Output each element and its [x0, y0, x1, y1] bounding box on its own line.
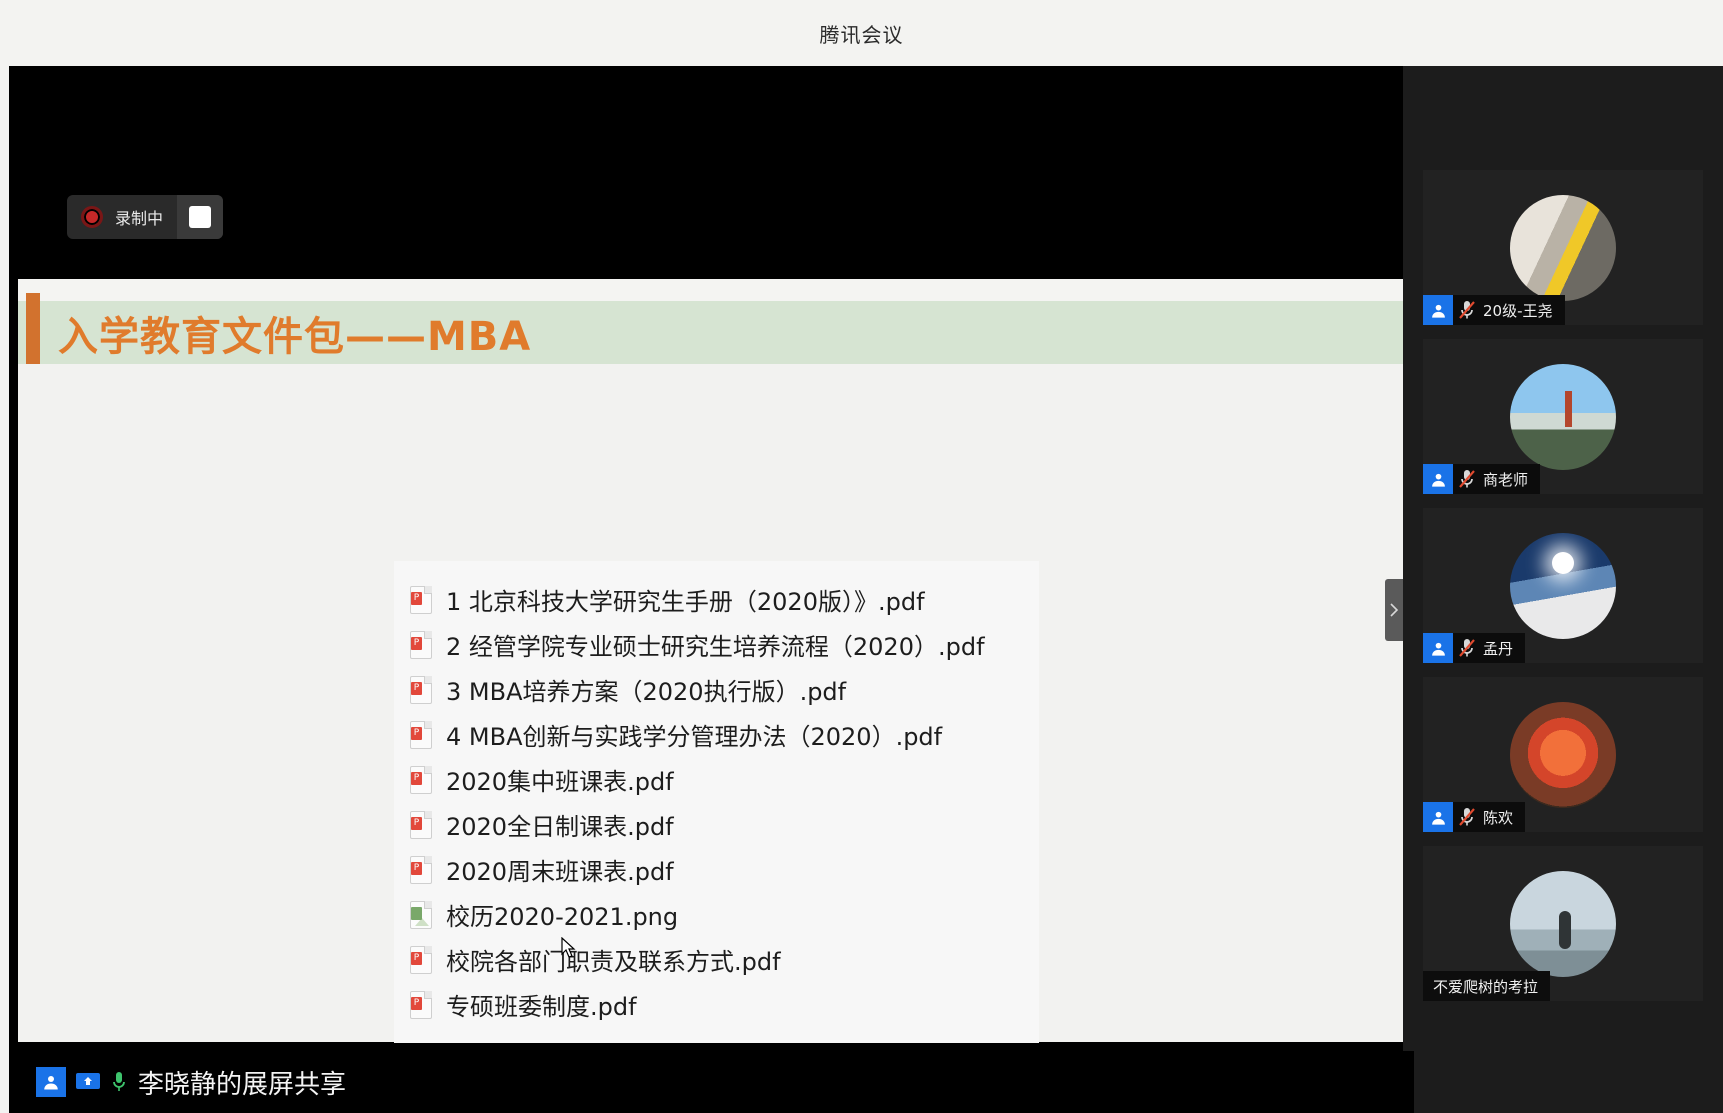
pdf-file-icon: P	[410, 991, 432, 1019]
microphone-muted-icon	[1453, 633, 1481, 663]
file-list-item[interactable]: P专硕班委制度.pdf	[394, 982, 1039, 1027]
app-title: 腾讯会议	[820, 19, 904, 48]
pdf-file-icon: P	[410, 946, 432, 974]
participant-namebar: 不爱爬树的考拉	[1423, 971, 1550, 1001]
person-icon	[1423, 802, 1453, 832]
file-list-item[interactable]: P2020集中班课表.pdf	[394, 757, 1039, 802]
file-list-item[interactable]: P4 MBA创新与实践学分管理办法（2020）.pdf	[394, 712, 1039, 757]
file-list-item[interactable]: P校院各部门职责及联系方式.pdf	[394, 937, 1039, 982]
title-accent-bar	[26, 293, 40, 365]
avatar	[1510, 364, 1616, 470]
pdf-file-icon: P	[410, 631, 432, 659]
file-name: 1 北京科技大学研究生手册（2020版）》.pdf	[446, 582, 925, 617]
avatar	[1510, 702, 1616, 808]
participant-namebar: 20级-王尧	[1423, 295, 1565, 325]
meeting-stage: 录制中 入学教育文件包——MBA P1 北京科技大学研究生手册（2020版）》.…	[9, 66, 1723, 1113]
recording-indicator[interactable]: 录制中	[67, 195, 223, 239]
image-file-icon	[410, 901, 432, 929]
file-name: 2020集中班课表.pdf	[446, 762, 674, 797]
slide-title: 入学教育文件包——MBA	[58, 304, 531, 362]
participants-collapse-handle[interactable]	[1385, 579, 1403, 641]
file-list-item[interactable]: P1 北京科技大学研究生手册（2020版）》.pdf	[394, 577, 1039, 622]
person-icon	[36, 1067, 66, 1097]
participant-namebar: 陈欢	[1423, 802, 1525, 832]
participant-tile[interactable]: 20级-王尧	[1423, 170, 1703, 325]
participant-name: 孟丹	[1481, 638, 1525, 659]
file-name: 专硕班委制度.pdf	[446, 987, 637, 1022]
shared-slide: 入学教育文件包——MBA P1 北京科技大学研究生手册（2020版）》.pdfP…	[18, 279, 1414, 1042]
person-icon	[1423, 295, 1453, 325]
file-list-item[interactable]: P2020全日制课表.pdf	[394, 802, 1039, 847]
microphone-muted-icon	[1453, 464, 1481, 494]
participant-name: 商老师	[1481, 469, 1540, 490]
chevron-right-icon	[1389, 603, 1399, 617]
pdf-file-icon: P	[410, 766, 432, 794]
file-name: 4 MBA创新与实践学分管理办法（2020）.pdf	[446, 717, 942, 752]
file-name: 2020全日制课表.pdf	[446, 807, 674, 842]
microphone-muted-icon	[1453, 295, 1481, 325]
participant-namebar: 孟丹	[1423, 633, 1525, 663]
participant-tile[interactable]: 商老师	[1423, 339, 1703, 494]
participant-tile[interactable]: 不爱爬树的考拉	[1423, 846, 1703, 1001]
microphone-muted-icon	[1453, 802, 1481, 832]
tencent-meeting-window: 腾讯会议 录制中 入学教育文件包——MBA P1 北京科技大学研究生手册（202…	[0, 0, 1723, 1113]
file-list-item[interactable]: P3 MBA培养方案（2020执行版）.pdf	[394, 667, 1039, 712]
participant-name: 不爱爬树的考拉	[1433, 976, 1550, 997]
person-icon	[1423, 633, 1453, 663]
pdf-file-icon: P	[410, 586, 432, 614]
participant-name: 陈欢	[1481, 807, 1525, 828]
slide-body: P1 北京科技大学研究生手册（2020版）》.pdfP2 经管学院专业硕士研究生…	[18, 364, 1414, 1042]
file-name: 2020周末班课表.pdf	[446, 852, 674, 887]
microphone-icon	[108, 1069, 130, 1095]
record-dot-icon	[81, 206, 103, 228]
participants-rail: 20级-王尧商老师孟丹陈欢不爱爬树的考拉	[1403, 66, 1723, 1113]
file-list-item[interactable]: P2 经管学院专业硕士研究生培养流程（2020）.pdf	[394, 622, 1039, 667]
pdf-file-icon: P	[410, 676, 432, 704]
file-name: 3 MBA培养方案（2020执行版）.pdf	[446, 672, 846, 707]
stop-recording-button[interactable]	[177, 195, 223, 239]
participant-namebar: 商老师	[1423, 464, 1540, 494]
person-icon	[1423, 464, 1453, 494]
pdf-file-icon: P	[410, 856, 432, 884]
file-name: 校院各部门职责及联系方式.pdf	[446, 942, 781, 977]
file-name: 校历2020-2021.png	[446, 897, 678, 932]
participant-tile[interactable]: 孟丹	[1423, 508, 1703, 663]
pdf-file-icon: P	[410, 811, 432, 839]
share-owner-label: 李晓静的展屏共享	[138, 1064, 346, 1101]
file-list-item[interactable]: P2020周末班课表.pdf	[394, 847, 1039, 892]
file-list: P1 北京科技大学研究生手册（2020版）》.pdfP2 经管学院专业硕士研究生…	[394, 561, 1039, 1043]
screen-share-icon	[74, 1071, 102, 1093]
avatar	[1510, 533, 1616, 639]
participant-tile[interactable]: 陈欢	[1423, 677, 1703, 832]
window-titlebar: 腾讯会议	[0, 0, 1723, 66]
avatar	[1510, 871, 1616, 977]
avatar	[1510, 195, 1616, 301]
file-name: 2 经管学院专业硕士研究生培养流程（2020）.pdf	[446, 627, 985, 662]
slide-top-margin	[18, 279, 1414, 301]
screen-share-bar: 李晓静的展屏共享	[18, 1051, 1414, 1113]
pdf-file-icon: P	[410, 721, 432, 749]
recording-label: 录制中	[115, 205, 163, 229]
slide-title-band: 入学教育文件包——MBA	[18, 301, 1414, 364]
file-list-item[interactable]: 校历2020-2021.png	[394, 892, 1039, 937]
participant-name: 20级-王尧	[1481, 300, 1565, 321]
stop-square-icon	[189, 206, 211, 228]
